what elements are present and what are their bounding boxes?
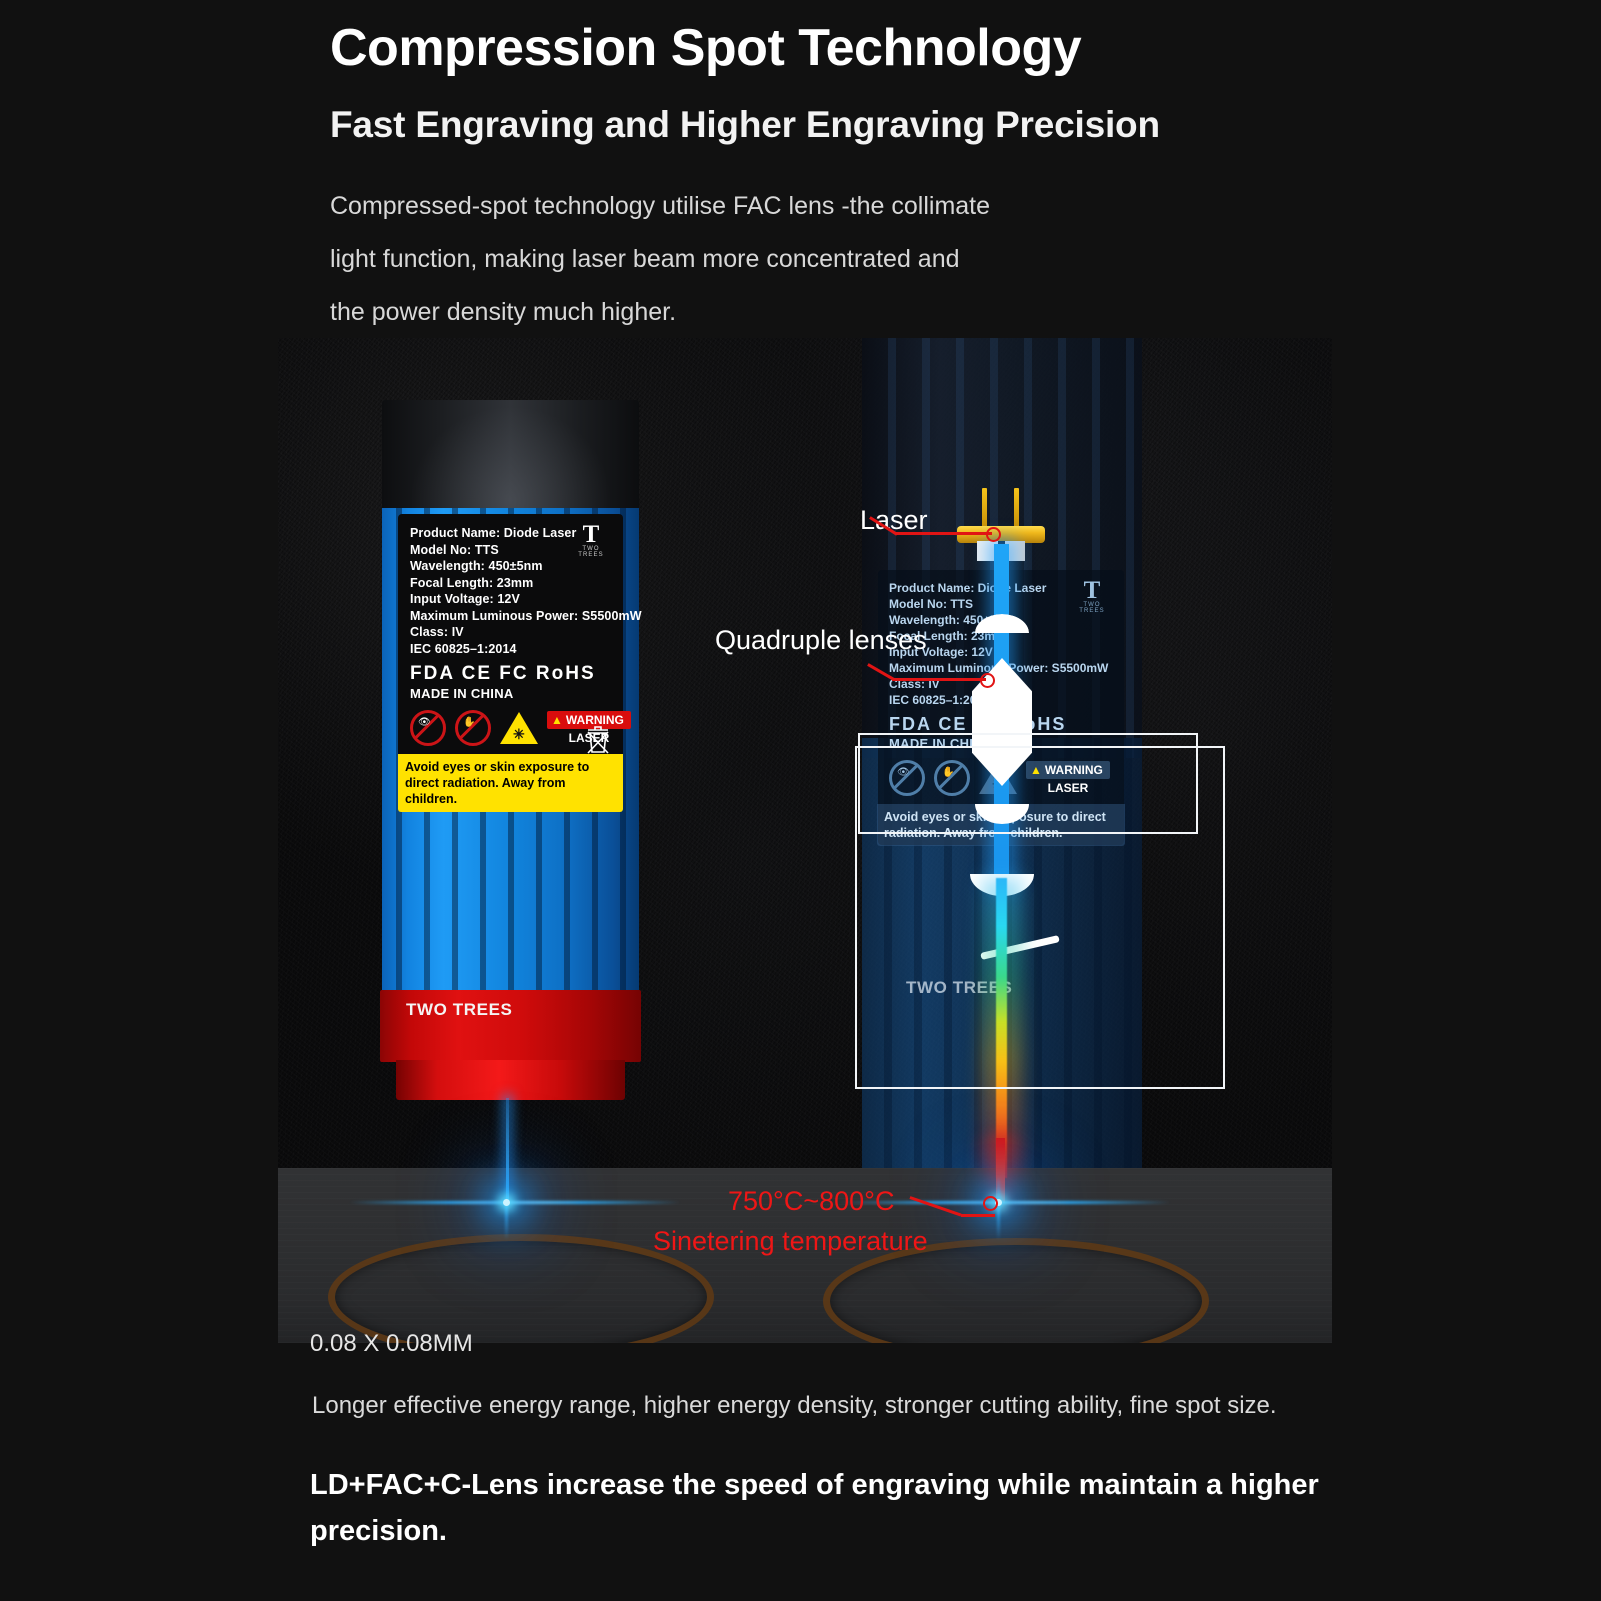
diode-pin-icon <box>1014 488 1019 530</box>
leader-segment <box>896 532 992 535</box>
laser-hazard-triangle-icon: ✳ <box>500 712 538 744</box>
conclusion-line: LD+FAC+C-Lens increase the speed of engr… <box>310 1462 1320 1554</box>
spec-line: Maximum Luminous Power: S5500mW <box>410 608 611 625</box>
spec-line: IEC 60825–1:2014 <box>410 641 611 658</box>
spec-line: Class: IV <box>410 624 611 641</box>
module-top-housing <box>382 400 639 518</box>
product-infographic: Compression Spot Technology Fast Engravi… <box>0 0 1601 1601</box>
laser-module-left: TWO TREES T TWO TREES Product Name: Diod… <box>382 400 639 1100</box>
made-in-text: MADE IN CHINA <box>410 686 611 701</box>
no-skin-exposure-icon: ✋ <box>455 710 491 746</box>
impact-vstreak-right <box>997 1176 1000 1240</box>
callout-temperature-sub-label: Sinetering temperature <box>653 1226 928 1257</box>
callout-temperature-label: 750°C~800°C <box>728 1186 894 1217</box>
highlight-rect-vertical <box>855 746 1225 1089</box>
intro-paragraph: Compressed-spot technology utilise FAC l… <box>330 180 1230 339</box>
ghost-logo-mark: T <box>1070 580 1114 602</box>
page-title: Compression Spot Technology <box>330 18 1081 78</box>
two-trees-logo: T TWO TREES <box>569 524 613 558</box>
intro-line-3: the power density much higher. <box>330 286 1230 339</box>
spot-size-label: 0.08 X 0.08MM <box>310 1330 473 1358</box>
callout-lenses-label: Quadruple lenses <box>715 625 927 656</box>
weee-bin-icon <box>585 724 611 754</box>
spec-label-plate: T TWO TREES Product Name: Diode Laser Mo… <box>398 514 623 812</box>
benefits-line: Longer effective energy range, higher en… <box>312 1392 1277 1420</box>
intro-line-1: Compressed-spot technology utilise FAC l… <box>330 180 1230 233</box>
module-red-nozzle <box>396 1060 625 1100</box>
leader-endpoint-dot <box>986 527 1001 542</box>
impact-streak-left <box>350 1201 680 1204</box>
spec-line: Wavelength: 450±5nm <box>410 558 611 575</box>
hazard-icon-row: 👁 ✋ ✳ ▲ WARNING LASER <box>410 710 611 746</box>
ghost-two-trees-logo: T TWO TREES <box>1070 580 1114 614</box>
impact-vstreak-left <box>505 1176 508 1240</box>
warning-triangle-icon: ▲ <box>551 713 563 727</box>
logo-text: TWO TREES <box>569 546 613 558</box>
impact-spot-left <box>503 1199 510 1206</box>
leader-segment <box>961 1214 995 1217</box>
spec-line: Focal Length: 23mm <box>410 575 611 592</box>
logo-mark: T <box>569 524 613 546</box>
leader-segment <box>892 678 986 681</box>
laser-diode-assembly <box>957 488 1045 550</box>
leader-endpoint-dot <box>980 673 995 688</box>
product-photo-panel: TWO TREES T TWO TREES Product Name: Diod… <box>278 338 1332 1343</box>
yellow-warning-strip: Avoid eyes or skin exposure to direct ra… <box>398 754 623 812</box>
ghost-logo-text: TWO TREES <box>1070 602 1114 614</box>
module-brand-label: TWO TREES <box>406 1000 512 1020</box>
leader-endpoint-dot <box>983 1196 998 1211</box>
intro-line-2: light function, making laser beam more c… <box>330 233 1230 286</box>
page-subtitle: Fast Engraving and Higher Engraving Prec… <box>330 104 1160 146</box>
diode-pin-icon <box>982 488 987 530</box>
spec-line: Input Voltage: 12V <box>410 591 611 608</box>
no-eye-exposure-icon: 👁 <box>410 710 446 746</box>
certification-marks: FDA CE FC RoHS <box>410 663 611 685</box>
